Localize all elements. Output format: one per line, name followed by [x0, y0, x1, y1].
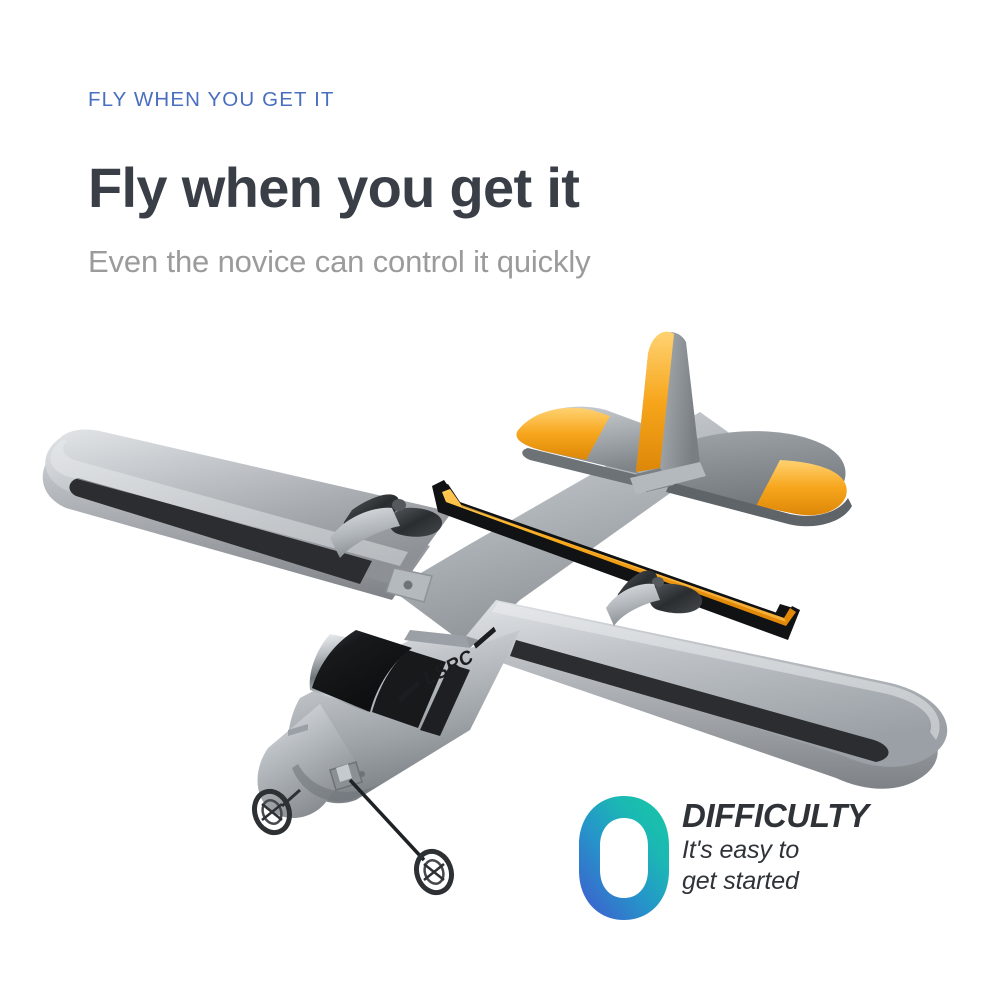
- zero-numeral-ring-icon: [576, 793, 672, 923]
- propeller-rear: [606, 570, 702, 626]
- product-marketing-slide: FLY WHEN YOU GET IT Fly when you get it …: [0, 0, 1000, 1000]
- fuselage-nose: [258, 630, 521, 818]
- difficulty-badge: DIFFICULTY It's easy to get started: [576, 793, 916, 923]
- page-title: Fly when you get it: [88, 159, 888, 218]
- difficulty-badge-text: DIFFICULTY It's easy to get started: [682, 799, 918, 895]
- landing-gear-wheel-rear: [350, 780, 457, 898]
- difficulty-subtitle-line2: get started: [682, 867, 918, 895]
- eyebrow-text: FLY WHEN YOU GET IT: [88, 88, 888, 113]
- vertical-stabilizer: [630, 332, 706, 494]
- subtitle-text: Even the novice can control it quickly: [88, 243, 888, 280]
- difficulty-label: DIFFICULTY: [682, 799, 918, 833]
- right-wing: [466, 600, 947, 789]
- headline-block: FLY WHEN YOU GET IT Fly when you get it …: [88, 88, 888, 281]
- difficulty-subtitle-line1: It's easy to: [682, 836, 918, 864]
